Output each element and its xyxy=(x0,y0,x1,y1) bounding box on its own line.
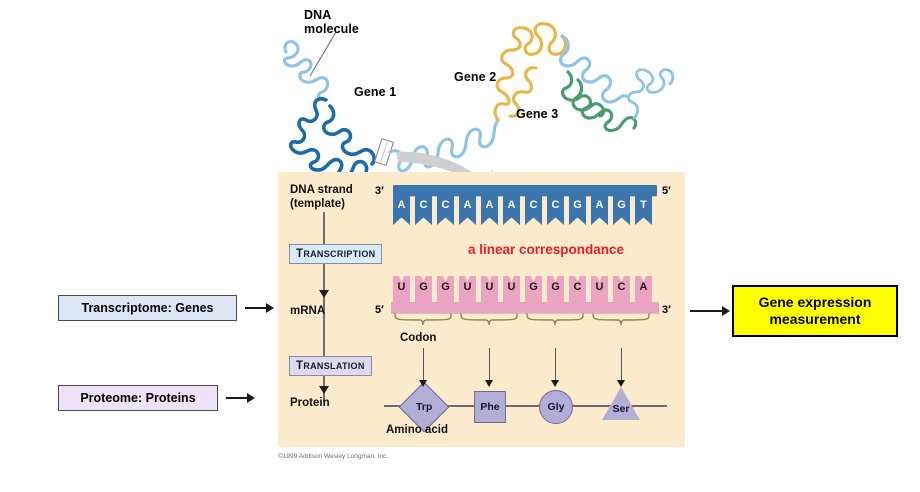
dna-base-6: A xyxy=(503,196,520,225)
dna-base-5: A xyxy=(481,196,498,225)
mrna-base-6: U xyxy=(503,276,520,302)
proteome-connector-arrowhead xyxy=(247,393,255,403)
gene-expression-connector-line xyxy=(690,310,724,312)
codon-arrow-head-2 xyxy=(485,380,493,387)
dna-base-4: A xyxy=(459,196,476,225)
codon-arrow-line-3 xyxy=(555,348,556,382)
dna-base-10: A xyxy=(591,196,608,225)
amino-acid-ser: Ser xyxy=(602,387,640,420)
copyright-text: ©1999 Addison Wesley Longman, Inc. xyxy=(278,453,388,460)
gene-expression-connector-arrowhead xyxy=(722,306,730,316)
dna-base-11: G xyxy=(613,196,630,225)
mrna-base-row: UGGUUUGGCUCA xyxy=(393,276,657,302)
dna-strand-label-line2: (template) xyxy=(290,198,353,212)
dna-molecule-label-line1: DNA xyxy=(304,8,359,22)
transcriptome-callout-box[interactable]: Transcriptome: Genes xyxy=(58,295,237,321)
gene-expression-line2: measurement xyxy=(769,311,860,328)
dna-strand-light-mid2 xyxy=(561,36,626,102)
mrna-label: mRNA xyxy=(290,305,325,317)
dna-strand-light-left xyxy=(285,42,328,100)
gene-expression-line1: Gene expression xyxy=(759,294,872,311)
gene-2-label: Gene 2 xyxy=(454,70,496,84)
mrna-backbone xyxy=(391,302,659,313)
dna-backbone xyxy=(393,185,657,196)
mrna-five-prime-label: 5′ xyxy=(375,304,384,316)
dna-strand-gene1-b xyxy=(324,106,374,164)
dna-strand-gene2 xyxy=(495,24,565,120)
protein-label: Protein xyxy=(290,397,330,409)
codon-arrow-line-2 xyxy=(489,348,490,382)
translation-flow-arrow xyxy=(319,386,329,394)
mrna-base-5: U xyxy=(481,276,498,302)
dna-base-7: C xyxy=(525,196,542,225)
dna-base-1: A xyxy=(393,196,410,225)
codon-bracket-2 xyxy=(459,313,519,332)
dna-strand-light-right xyxy=(629,70,673,118)
linear-correspondance-caption: a linear correspondance xyxy=(468,242,624,257)
codon-bracket-3 xyxy=(525,313,585,332)
dna-molecule-label-line2: molecule xyxy=(304,22,359,36)
dna-molecule-label: DNA molecule xyxy=(304,8,359,36)
amino-acid-label: Amino acid xyxy=(386,424,448,436)
codon-bracket-4 xyxy=(591,313,651,332)
codon-label: Codon xyxy=(400,332,436,344)
dna-base-8: C xyxy=(547,196,564,225)
dna-five-prime-label: 5′ xyxy=(662,185,671,197)
amino-acid-phe: Phe xyxy=(474,391,506,423)
mrna-base-3: G xyxy=(437,276,454,302)
amino-acid-label-4: Ser xyxy=(602,403,640,415)
codon-arrow-line-1 xyxy=(423,348,424,382)
mrna-base-4: U xyxy=(459,276,476,302)
central-dogma-panel: DNA strand (template) mRNA Protein TRANS… xyxy=(278,172,685,447)
transcription-box-rest: RANSCRIPTION xyxy=(303,249,375,259)
dna-molecule-illustration: DNA molecule Gene 1 Gene 2 Gene 3 xyxy=(278,0,678,172)
mrna-base-7: G xyxy=(525,276,542,302)
codon-bracket-row xyxy=(393,313,657,333)
amino-acid-label-2: Phe xyxy=(480,401,499,413)
proteome-connector-line xyxy=(226,397,249,399)
mrna-base-1: U xyxy=(393,276,410,302)
transcription-flow-arrow xyxy=(319,290,329,298)
mrna-base-12: A xyxy=(635,276,652,302)
dna-base-3: C xyxy=(437,196,454,225)
mrna-base-10: U xyxy=(591,276,608,302)
dna-base-2: C xyxy=(415,196,432,225)
codon-arrow-head-4 xyxy=(617,380,625,387)
gene-3-label: Gene 3 xyxy=(516,107,558,121)
mrna-three-prime-label: 3′ xyxy=(662,304,671,316)
codon-arrow-line-4 xyxy=(621,348,622,382)
gene-1-label: Gene 1 xyxy=(354,85,396,99)
dna-three-prime-label: 3′ xyxy=(375,185,384,197)
amino-acid-label-3: Gly xyxy=(548,401,565,413)
dna-base-12: T xyxy=(635,196,652,225)
dna-strand-label: DNA strand (template) xyxy=(290,184,353,211)
translation-box-rest: RANSLATION xyxy=(303,361,364,371)
mrna-base-9: C xyxy=(569,276,586,302)
transcriptome-connector-line xyxy=(245,307,268,309)
dna-base-9: G xyxy=(569,196,586,225)
codon-arrow-head-3 xyxy=(551,380,559,387)
dna-strand-label-line1: DNA strand xyxy=(290,184,353,198)
gene-expression-callout-box[interactable]: Gene expression measurement xyxy=(732,285,898,337)
dna-base-row: ACCAAACCGAGT xyxy=(393,196,657,226)
proteome-callout-box[interactable]: Proteome: Proteins xyxy=(58,385,218,411)
figure-root: DNA molecule Gene 1 Gene 2 Gene 3 DNA st… xyxy=(0,0,920,492)
codon-bracket-1 xyxy=(393,313,453,332)
mrna-base-8: G xyxy=(547,276,564,302)
amino-acid-gly: Gly xyxy=(539,390,573,424)
mrna-base-11: C xyxy=(613,276,630,302)
amino-acid-label-1: Trp xyxy=(416,401,432,413)
codon-arrow-head-1 xyxy=(419,380,427,387)
dna-molecule-leader-line xyxy=(310,32,336,76)
mrna-base-2: G xyxy=(415,276,432,302)
transcriptome-connector-arrowhead xyxy=(266,303,274,313)
translation-box: TRANSLATION xyxy=(289,356,372,376)
transcription-box: TRANSCRIPTION xyxy=(289,244,382,264)
